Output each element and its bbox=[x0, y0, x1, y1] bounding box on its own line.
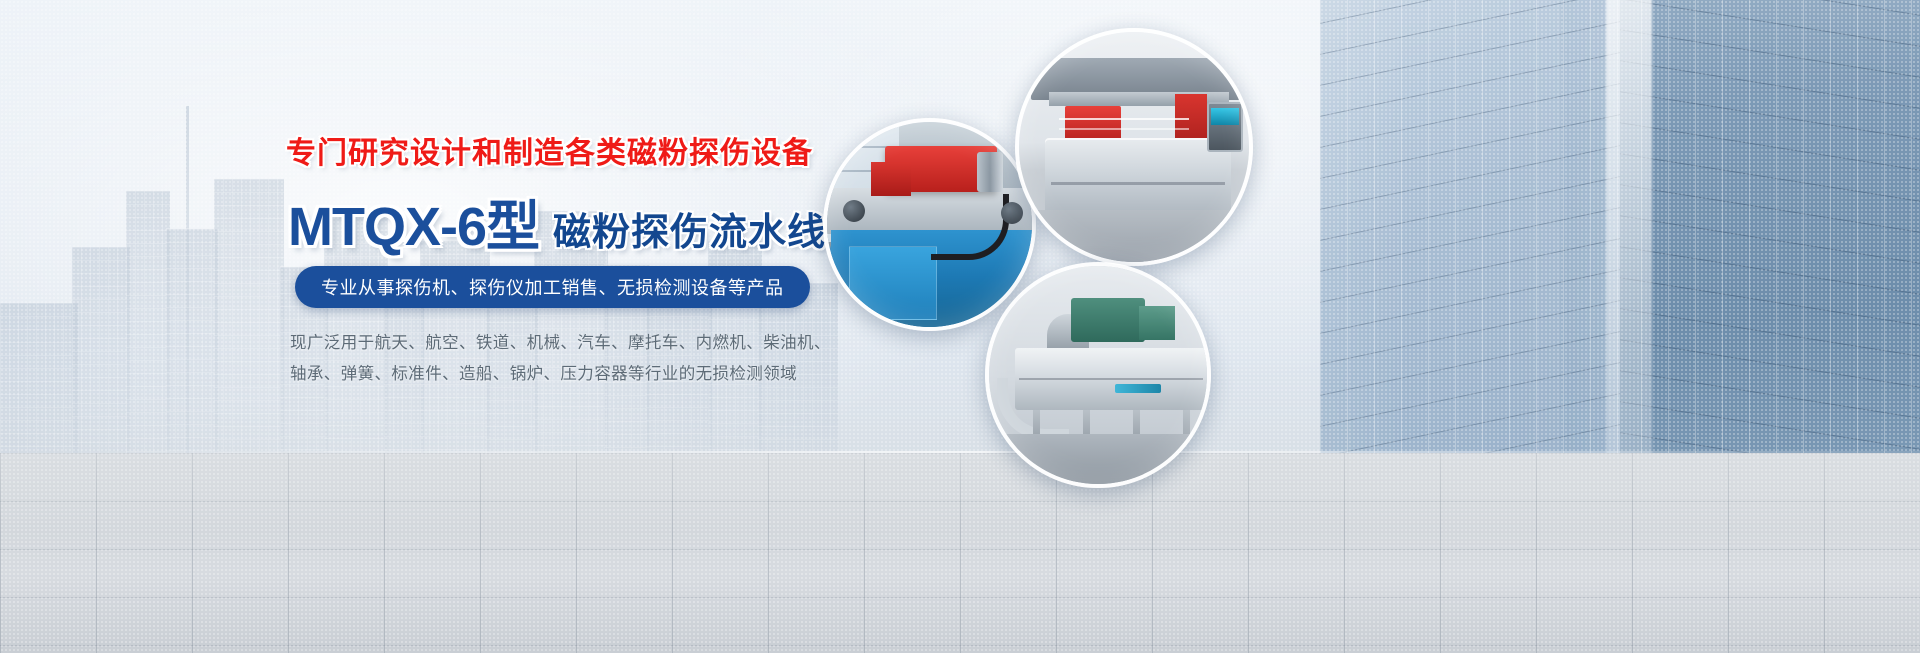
banner-title-row: MTQX-6型 磁粉探伤流水线 bbox=[288, 182, 826, 261]
product-model-title: MTQX-6型 bbox=[288, 182, 539, 261]
photo-stainless-steel-inspection-tank-room bbox=[1015, 28, 1253, 266]
promo-banner: 专门研究设计和制造各类磁粉探伤设备 MTQX-6型 磁粉探伤流水线 专业从事探伤… bbox=[0, 0, 1920, 653]
description-line-2: 轴承、弹簧、标准件、造船、锅炉、压力容器等行业的无损检测领域 bbox=[290, 359, 831, 390]
banner-headline-red: 专门研究设计和制造各类磁粉探伤设备 bbox=[286, 128, 813, 172]
business-scope-text: 专业从事探伤机、探伤仪加工销售、无损检测设备等产品 bbox=[321, 274, 784, 300]
banner-description: 现广泛用于航天、航空、铁道、机械、汽车、摩托车、内燃机、柴油机、 轴承、弹簧、标… bbox=[290, 328, 831, 390]
business-scope-pill[interactable]: 专业从事探伤机、探伤仪加工销售、无损检测设备等产品 bbox=[295, 266, 810, 308]
banner-copy-block: 专门研究设计和制造各类磁粉探伤设备 MTQX-6型 磁粉探伤流水线 专业从事探伤… bbox=[0, 0, 900, 653]
product-name-subtitle: 磁粉探伤流水线 bbox=[553, 201, 826, 256]
photo-stainless-conveyor-production-line bbox=[985, 262, 1211, 488]
description-line-1: 现广泛用于航天、航空、铁道、机械、汽车、摩托车、内燃机、柴油机、 bbox=[290, 328, 831, 359]
